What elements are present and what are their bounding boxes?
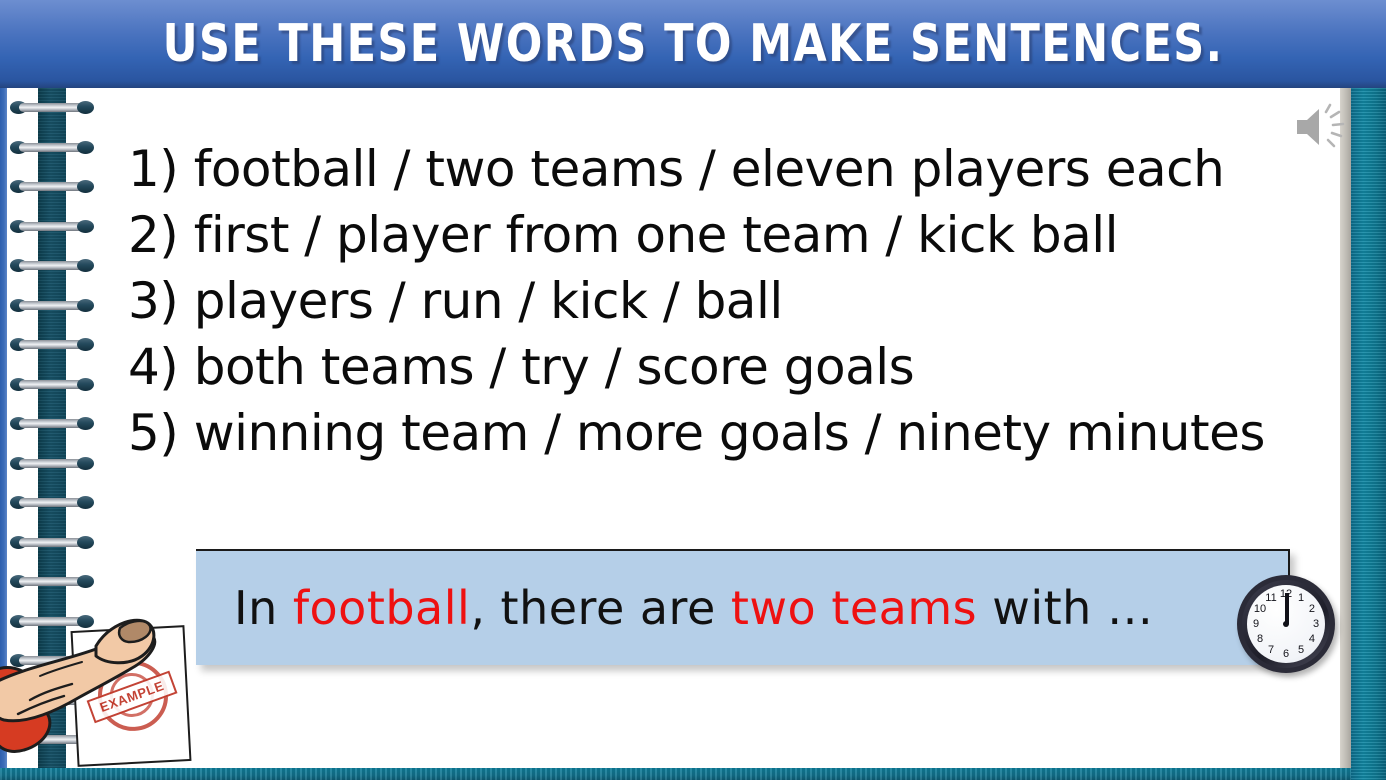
right-teal-border <box>1351 88 1386 780</box>
spiral-ring <box>10 496 94 509</box>
spiral-ring <box>10 141 94 154</box>
spiral-ring-cap-right <box>77 180 94 193</box>
spiral-ring-bar <box>19 380 85 389</box>
word-list-item: 1) football / two teams / eleven players… <box>128 136 1308 202</box>
spiral-ring <box>10 338 94 351</box>
spiral-ring <box>10 220 94 233</box>
spiral-ring <box>10 457 94 470</box>
clock-numeral: 7 <box>1263 644 1279 656</box>
spiral-ring-bar <box>19 222 85 231</box>
hand-illustration <box>0 588 230 768</box>
spiral-ring-bar <box>19 459 85 468</box>
clock-numeral: 9 <box>1248 618 1264 630</box>
spiral-ring-cap-right <box>77 101 94 114</box>
spiral-ring <box>10 299 94 312</box>
clock-numeral: 10 <box>1252 603 1268 615</box>
spiral-ring-cap-right <box>77 457 94 470</box>
example-sentence-box: In football, there are two teams with … <box>196 549 1290 665</box>
word-list-item: 3) players / run / kick / ball <box>128 268 1308 334</box>
example-plain-text: with … <box>977 581 1153 635</box>
spiral-ring-cap-right <box>77 220 94 233</box>
spiral-ring <box>10 378 94 391</box>
example-sentence-text: In football, there are two teams with … <box>234 573 1274 643</box>
word-list: 1) football / two teams / eleven players… <box>128 136 1308 466</box>
title-banner: USE THESE WORDS TO MAKE SENTENCES. <box>0 0 1386 88</box>
spiral-ring <box>10 101 94 114</box>
notebook-page: 1) football / two teams / eleven players… <box>0 88 1386 780</box>
spiral-ring-cap-right <box>77 338 94 351</box>
clock-numeral: 3 <box>1308 618 1324 630</box>
clock-numeral: 5 <box>1293 644 1309 656</box>
spiral-ring-bar <box>19 182 85 191</box>
spiral-ring-bar <box>19 340 85 349</box>
spiral-ring-cap-right <box>77 141 94 154</box>
spiral-ring-cap-right <box>77 299 94 312</box>
paper-shadow-edge <box>1340 88 1351 780</box>
clock-pivot <box>1283 621 1289 627</box>
spiral-ring <box>10 259 94 272</box>
spiral-ring-cap-right <box>77 417 94 430</box>
spiral-ring-cap-right <box>77 259 94 272</box>
spiral-ring-bar <box>19 301 85 310</box>
clock-numeral: 11 <box>1263 592 1279 604</box>
clock-numeral: 2 <box>1304 603 1320 615</box>
slide-canvas: USE THESE WORDS TO MAKE SENTENCES. 1) fo… <box>0 0 1386 780</box>
spiral-ring-bar <box>19 143 85 152</box>
spiral-ring-bar <box>19 419 85 428</box>
page-title: USE THESE WORDS TO MAKE SENTENCES. <box>55 0 1330 88</box>
speaker-icon[interactable] <box>1293 102 1351 152</box>
word-list-item: 2) first / player from one team / kick b… <box>128 202 1308 268</box>
spiral-ring-cap-right <box>77 378 94 391</box>
spiral-ring-cap-right <box>77 496 94 509</box>
clock-numeral: 8 <box>1252 633 1268 645</box>
word-list-item: 4) both teams / try / score goals <box>128 334 1308 400</box>
wall-clock-icon: 121234567891011 <box>1237 575 1335 673</box>
example-plain-text: In <box>234 581 293 635</box>
bottom-teal-border <box>0 768 1351 780</box>
spiral-ring-bar <box>19 498 85 507</box>
spiral-ring-bar <box>19 261 85 270</box>
word-list-item: 5) winning team / more goals / ninety mi… <box>128 400 1308 466</box>
spiral-ring <box>10 180 94 193</box>
hand-holding-card-icon: EXAMPLE <box>0 528 230 768</box>
example-plain-text: , there are <box>470 581 731 635</box>
clock-numeral: 6 <box>1278 648 1294 660</box>
spiral-ring-bar <box>19 103 85 112</box>
example-highlight-word: football <box>293 581 470 635</box>
clock-minute-hand <box>1285 593 1289 624</box>
spiral-ring <box>10 417 94 430</box>
example-highlight-word: two teams <box>731 581 977 635</box>
